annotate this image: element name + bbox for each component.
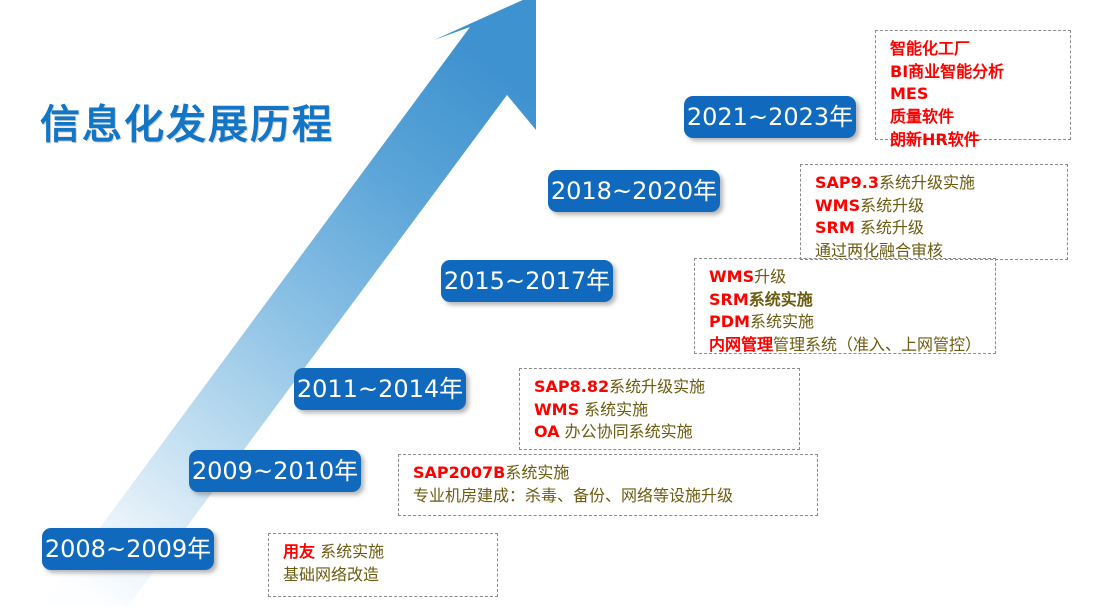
info-line: SAP9.3系统升级实施 (815, 172, 1055, 195)
text-segment: 管理系统（准入、上网管控） (773, 335, 981, 354)
info-line: 质量软件 (890, 106, 1058, 129)
text-segment: 专业机房建成：杀毒、备份、网络等设施升级 (413, 486, 733, 505)
info-line: 专业机房建成：杀毒、备份、网络等设施升级 (413, 485, 805, 508)
text-segment: 升级 (754, 267, 786, 286)
text-segment: 系统实施 (579, 400, 648, 419)
info-line: 用友 系统实施 (283, 541, 485, 564)
highlight-segment: SAP9.3 (815, 173, 879, 192)
info-box-2018-2020: SAP9.3系统升级实施WMS系统升级SRM 系统升级通过两化融合审核 (800, 164, 1068, 260)
text-segment: 系统升级实施 (879, 173, 975, 192)
year-badge-2011-2014[interactable]: 2011~2014年 (294, 368, 466, 410)
text-segment: 基础网络改造 (283, 565, 379, 584)
text-segment: 办公协同系统实施 (560, 422, 693, 441)
info-box-2015-2017: WMS升级SRM系统实施PDM系统实施内网管理管理系统（准入、上网管控） (694, 258, 996, 354)
info-line: 内网管理管理系统（准入、上网管控） (709, 334, 983, 357)
year-badge-2015-2017[interactable]: 2015~2017年 (441, 260, 613, 302)
info-line: MES (890, 83, 1058, 106)
highlight-segment: SRM (709, 290, 749, 309)
info-line: SRM 系统升级 (815, 217, 1055, 240)
year-badge-2021-2023[interactable]: 2021~2023年 (684, 96, 856, 138)
info-line: WMS 系统实施 (534, 399, 787, 422)
info-line: BI商业智能分析 (890, 61, 1058, 84)
text-segment: 系统实施 (505, 463, 569, 482)
info-box-2021-2023: 智能化工厂BI商业智能分析MES质量软件朗新HR软件 (875, 30, 1071, 140)
year-badge-2009-2010[interactable]: 2009~2010年 (189, 450, 361, 492)
text-segment: 系统实施 (315, 542, 384, 561)
year-badge-2018-2020[interactable]: 2018~2020年 (548, 170, 720, 212)
highlight-segment: PDM (709, 312, 750, 331)
text-segment: 系统实施 (750, 312, 814, 331)
info-line: OA 办公协同系统实施 (534, 421, 787, 444)
info-line: 智能化工厂 (890, 38, 1058, 61)
highlight-segment: OA (534, 422, 560, 441)
info-line: WMS升级 (709, 266, 983, 289)
slide-canvas: 信息化发展历程 2008~2009年用友 系统实施基础网络改造2009~2010… (0, 0, 1097, 606)
highlight-segment: WMS (709, 267, 754, 286)
highlight-segment: 质量软件 (890, 107, 954, 126)
highlight-segment: SAP2007B (413, 463, 505, 482)
page-title: 信息化发展历程 (40, 92, 334, 150)
highlight-segment: WMS (534, 400, 579, 419)
text-segment: 系统升级 (860, 196, 924, 215)
highlight-segment: 系统实施 (749, 290, 813, 309)
year-badge-2008-2009[interactable]: 2008~2009年 (42, 528, 214, 570)
info-line: SAP2007B系统实施 (413, 462, 805, 485)
info-box-2008-2009: 用友 系统实施基础网络改造 (268, 533, 498, 597)
highlight-segment: 智能化工厂 (890, 39, 970, 58)
highlight-segment: 朗新HR软件 (890, 130, 980, 149)
highlight-segment: SRM (815, 218, 855, 237)
highlight-segment: SAP8.82 (534, 377, 609, 396)
info-line: SAP8.82系统升级实施 (534, 376, 787, 399)
highlight-segment: 内网管理 (709, 335, 773, 354)
text-segment: 通过两化融合审核 (815, 241, 943, 260)
text-segment: 系统升级 (855, 218, 924, 237)
info-box-2011-2014: SAP8.82系统升级实施WMS 系统实施OA 办公协同系统实施 (519, 368, 800, 450)
highlight-segment: MES (890, 84, 928, 103)
info-line: 通过两化融合审核 (815, 240, 1055, 263)
text-segment: 系统升级实施 (609, 377, 705, 396)
info-line: WMS系统升级 (815, 195, 1055, 218)
info-line: PDM系统实施 (709, 311, 983, 334)
info-line: 基础网络改造 (283, 564, 485, 587)
info-line: 朗新HR软件 (890, 129, 1058, 152)
highlight-segment: BI商业智能分析 (890, 62, 1004, 81)
info-line: SRM系统实施 (709, 289, 983, 312)
highlight-segment: WMS (815, 196, 860, 215)
info-box-2009-2010: SAP2007B系统实施专业机房建成：杀毒、备份、网络等设施升级 (398, 454, 818, 516)
highlight-segment: 用友 (283, 542, 315, 561)
